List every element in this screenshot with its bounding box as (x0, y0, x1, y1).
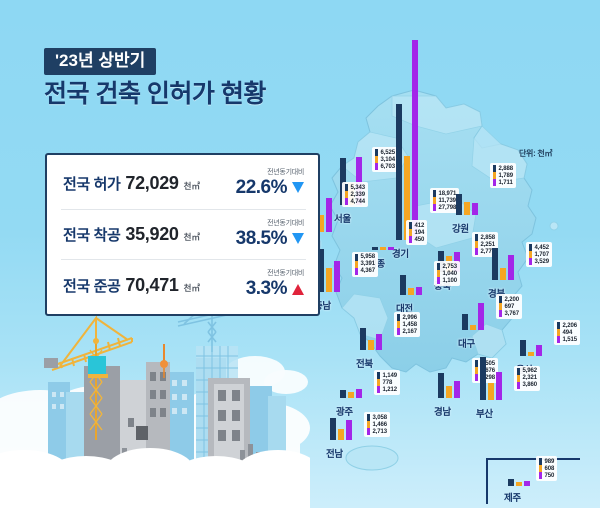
value-text: 2,200 (505, 297, 520, 303)
value-row: 494 (557, 329, 577, 336)
bar-준공 (472, 203, 478, 215)
legend-swatch-준공 (557, 336, 560, 343)
value-row: 194 (409, 229, 424, 236)
period-badge: '23년 상반기 (44, 48, 156, 75)
region-label-전북: 전북 (356, 356, 373, 370)
value-text: 3,767 (505, 311, 520, 317)
arrow-up-icon (292, 284, 304, 295)
region-label-제주: 제주 (504, 490, 521, 504)
legend-swatch-착공 (529, 251, 532, 258)
value-box-광주: 1,1497781,212 (374, 370, 400, 395)
bar-허가 (396, 104, 402, 240)
region-chart-광주: 광주1,1497781,212 (340, 389, 362, 398)
value-text: 3,104 (381, 157, 396, 163)
legend-swatch-준공 (397, 328, 400, 335)
bar-group (492, 248, 514, 280)
legend-swatch-착공 (539, 465, 542, 472)
value-text: 2,321 (523, 375, 538, 381)
value-text: 3,391 (361, 261, 376, 267)
legend-swatch-착공 (375, 156, 378, 163)
legend-swatch-허가 (539, 458, 542, 465)
legend-swatch-준공 (355, 268, 358, 275)
legend-swatch-착공 (517, 375, 520, 382)
infographic-stage: '23년 상반기 전국 건축 인허가 현황 전국 허가 72,029 천㎡ 전년… (0, 0, 600, 508)
value-row: 2,167 (397, 328, 417, 335)
region-chart-경기: 경기18,97111,73927,798 (396, 40, 418, 240)
bar-group (318, 249, 340, 292)
value-row: 5,962 (517, 368, 537, 375)
bar-group (330, 418, 352, 440)
value-text: 2,858 (481, 235, 496, 241)
bar-group (462, 303, 484, 330)
legend-swatch-허가 (557, 322, 560, 329)
value-row: 2,713 (367, 428, 387, 435)
legend-swatch-준공 (539, 472, 542, 479)
value-text: 3,529 (535, 259, 550, 265)
value-text: 2,753 (443, 264, 458, 270)
value-box-세종: 412194450 (406, 220, 427, 245)
page-title: 전국 건축 인허가 현황 (44, 80, 266, 109)
stat-start-value: 35,920 (125, 224, 178, 245)
region-label-부산: 부산 (476, 406, 493, 420)
bar-허가 (456, 194, 462, 215)
legend-swatch-허가 (499, 296, 502, 303)
stat-start-label: 전국 착공 (63, 224, 120, 245)
legend-swatch-허가 (475, 234, 478, 241)
legend-swatch-허가 (397, 314, 400, 321)
stat-complete-pct: 3.3% (246, 278, 287, 300)
legend-swatch-준공 (375, 163, 378, 170)
region-label-전남: 전남 (326, 446, 343, 460)
value-row: 4,744 (345, 198, 365, 205)
legend-swatch-착공 (557, 329, 560, 336)
legend-swatch-착공 (355, 261, 358, 268)
stat-complete-label: 전국 준공 (63, 275, 120, 296)
bar-허가 (462, 314, 468, 330)
value-row: 3,860 (517, 382, 537, 389)
bar-허가 (340, 390, 346, 398)
legend-swatch-준공 (475, 248, 478, 255)
bar-착공 (348, 392, 354, 398)
value-row: 450 (409, 236, 424, 243)
stat-start-right: 전년동기대비 38.5% (226, 220, 304, 250)
bar-group (372, 247, 394, 250)
bar-허가 (492, 248, 498, 280)
legend-swatch-착공 (475, 241, 478, 248)
legend-swatch-준공 (517, 382, 520, 389)
bar-허가 (400, 275, 406, 295)
value-text: 11,739 (439, 198, 456, 204)
legend-swatch-착공 (475, 367, 478, 374)
stat-start-compare: 전년동기대비 (226, 220, 304, 227)
value-row: 2,996 (397, 314, 417, 321)
bar-준공 (412, 40, 418, 240)
value-row: 1,149 (377, 372, 397, 379)
value-text: 6,703 (381, 164, 396, 170)
value-text: 194 (415, 230, 425, 236)
stat-complete-compare: 전년동기대비 (226, 270, 304, 277)
stat-permit-value: 72,029 (125, 173, 178, 194)
bar-준공 (346, 420, 352, 440)
value-text: 2,888 (499, 166, 514, 172)
value-text: 2,167 (403, 329, 418, 335)
value-text: 412 (415, 223, 425, 229)
legend-swatch-허가 (437, 263, 440, 270)
value-row: 2,206 (557, 322, 577, 329)
value-text: 1,707 (535, 252, 550, 258)
bar-준공 (416, 287, 422, 295)
value-box-대구: 2,2006973,767 (496, 294, 522, 319)
value-box-전남: 3,0581,4662,713 (364, 412, 390, 437)
value-row: 608 (539, 465, 554, 472)
value-box-부산: 5,9622,3213,860 (514, 366, 540, 391)
bar-group (480, 357, 502, 400)
stat-permit-unit: 천㎡ (184, 180, 200, 192)
bar-준공 (536, 345, 542, 356)
value-row: 6,703 (375, 163, 395, 170)
legend-swatch-착공 (433, 197, 436, 204)
bar-준공 (334, 261, 340, 292)
legend-swatch-준공 (377, 386, 380, 393)
stat-permit-right: 전년동기대비 22.6% (226, 169, 304, 199)
value-row: 2,753 (437, 263, 457, 270)
region-chart-전북: 전북2,9961,4582,167 (360, 328, 382, 350)
value-row: 1,515 (557, 336, 577, 343)
value-row: 1,040 (437, 270, 457, 277)
stat-row-start: 전국 착공 35,920 천㎡ 전년동기대비 38.5% (61, 210, 306, 261)
bar-허가 (520, 340, 526, 356)
legend-swatch-착공 (397, 321, 400, 328)
value-box-경북: 4,4521,7073,529 (526, 242, 552, 267)
value-row: 1,100 (437, 277, 457, 284)
value-row: 697 (499, 303, 519, 310)
region-chart-경북: 경북4,4521,7073,529 (492, 248, 514, 280)
stat-permit-left: 전국 허가 72,029 천㎡ (63, 173, 200, 194)
stat-start-pct: 38.5% (236, 228, 287, 250)
region-chart-전남: 전남3,0581,4662,713 (330, 418, 352, 440)
value-row: 2,888 (493, 165, 513, 172)
bar-착공 (488, 383, 494, 400)
bar-group (508, 479, 530, 486)
region-chart-경남: 경남3,5051,6762,298 (438, 373, 460, 398)
bar-허가 (372, 247, 378, 250)
region-chart-세종: 세종412194450 (372, 247, 394, 250)
legend-swatch-착공 (377, 379, 380, 386)
legend-swatch-허가 (529, 244, 532, 251)
value-row: 989 (539, 458, 554, 465)
region-label-광주: 광주 (336, 404, 353, 418)
region-label-경기: 경기 (392, 246, 409, 260)
value-text: 27,798 (439, 205, 457, 211)
bar-착공 (368, 340, 374, 350)
legend-swatch-허가 (367, 414, 370, 421)
value-box-인천: 5,3432,3394,744 (342, 182, 368, 207)
legend-swatch-착공 (367, 421, 370, 428)
value-box-충남: 5,9583,3914,367 (352, 252, 378, 277)
value-row: 27,798 (433, 204, 456, 211)
bar-준공 (478, 303, 484, 330)
stat-permit-pct: 22.6% (236, 177, 287, 199)
value-text: 2,996 (403, 315, 418, 321)
bar-착공 (446, 386, 452, 398)
value-row: 11,739 (433, 197, 456, 204)
legend-swatch-착공 (437, 270, 440, 277)
stat-complete-left: 전국 준공 70,471 천㎡ (63, 275, 200, 296)
value-row: 2,858 (475, 234, 495, 241)
bar-허가 (480, 357, 486, 400)
legend-swatch-허가 (475, 360, 478, 367)
bar-착공 (408, 288, 414, 295)
region-label-서울: 서울 (334, 211, 351, 225)
bar-허가 (438, 373, 444, 398)
bar-착공 (338, 429, 344, 440)
value-row: 1,711 (493, 179, 513, 186)
value-row: 2,321 (517, 375, 537, 382)
bar-group (396, 40, 418, 240)
legend-swatch-준공 (437, 277, 440, 284)
bar-group (400, 275, 422, 295)
legend-swatch-착공 (409, 229, 412, 236)
legend-swatch-준공 (529, 258, 532, 265)
legend-swatch-허가 (377, 372, 380, 379)
stat-complete-right: 전년동기대비 3.3% (226, 270, 304, 300)
legend-swatch-허가 (355, 254, 358, 261)
region-label-경남: 경남 (434, 404, 451, 418)
bar-준공 (508, 255, 514, 280)
value-box-울산: 2,2064941,515 (554, 320, 580, 345)
bar-준공 (356, 389, 362, 398)
bar-착공 (528, 352, 534, 356)
value-text: 2,339 (351, 192, 366, 198)
value-text: 1,515 (563, 337, 578, 343)
bar-착공 (500, 268, 506, 280)
region-label-대구: 대구 (458, 336, 475, 350)
value-text: 5,343 (351, 185, 366, 191)
value-text: 750 (545, 473, 555, 479)
legend-swatch-준공 (475, 374, 478, 381)
legend-swatch-허가 (517, 368, 520, 375)
value-row: 778 (377, 379, 397, 386)
value-text: 697 (505, 304, 515, 310)
value-text: 2,713 (373, 429, 388, 435)
value-text: 5,962 (523, 368, 538, 374)
region-chart-대전: 대전2,7531,0401,100 (400, 275, 422, 295)
value-row: 750 (539, 472, 554, 479)
region-chart-부산: 부산5,9622,3213,860 (480, 357, 502, 400)
value-text: 3,860 (523, 382, 538, 388)
value-row: 3,767 (499, 310, 519, 317)
value-text: 1,149 (383, 373, 398, 379)
value-row: 3,104 (375, 156, 395, 163)
value-text: 494 (563, 330, 573, 336)
legend-swatch-준공 (345, 198, 348, 205)
bar-허가 (508, 479, 514, 486)
value-text: 1,100 (443, 278, 458, 284)
bar-준공 (496, 372, 502, 400)
value-text: 4,452 (535, 245, 550, 251)
value-row: 3,058 (367, 414, 387, 421)
value-text: 1,789 (499, 173, 514, 179)
construction-illustration (0, 300, 310, 508)
value-row: 2,339 (345, 191, 365, 198)
value-row: 18,971 (433, 190, 456, 197)
region-chart-대구: 대구2,2006973,767 (462, 303, 484, 330)
value-row: 412 (409, 222, 424, 229)
value-text: 1,711 (499, 180, 513, 186)
bar-착공 (470, 325, 476, 330)
value-text: 3,058 (373, 415, 388, 421)
stat-permit-compare: 전년동기대비 (226, 169, 304, 176)
value-box-대전: 2,7531,0401,100 (434, 261, 460, 286)
value-box-서울: 6,5253,1046,703 (372, 147, 398, 172)
legend-swatch-허가 (375, 149, 378, 156)
stat-row-complete: 전국 준공 70,471 천㎡ 전년동기대비 3.3% (61, 260, 306, 310)
value-text: 1,458 (403, 322, 418, 328)
value-row: 6,525 (375, 149, 395, 156)
region-chart-충남: 충남5,9583,3914,367 (318, 249, 340, 292)
value-text: 18,971 (439, 191, 457, 197)
value-row: 1,212 (377, 386, 397, 393)
value-row: 3,391 (355, 261, 375, 268)
value-box-경기: 18,97111,73927,798 (430, 188, 459, 213)
bar-준공 (326, 198, 332, 232)
legend-swatch-준공 (433, 204, 436, 211)
value-text: 6,525 (381, 150, 396, 156)
value-row: 1,458 (397, 321, 417, 328)
crane-cabin (88, 356, 106, 374)
value-row: 4,452 (529, 244, 549, 251)
bar-착공 (464, 202, 470, 215)
value-row: 3,529 (529, 258, 549, 265)
value-box-제주: 989608750 (536, 456, 557, 481)
value-box-강원: 2,8881,7891,711 (490, 163, 516, 188)
value-text: 778 (383, 380, 393, 386)
bar-group (340, 389, 362, 398)
legend-swatch-준공 (409, 236, 412, 243)
title-block: '23년 상반기 전국 건축 인허가 현황 (44, 48, 266, 108)
summary-card: 전국 허가 72,029 천㎡ 전년동기대비 22.6% 전국 착공 35,92… (45, 153, 320, 316)
legend-swatch-준공 (493, 179, 496, 186)
stat-complete-unit: 천㎡ (184, 282, 200, 294)
value-row: 1,466 (367, 421, 387, 428)
value-row: 2,200 (499, 296, 519, 303)
bar-준공 (376, 334, 382, 350)
arrow-down-icon (292, 182, 304, 193)
bar-착공 (380, 247, 386, 250)
value-text: 2,206 (563, 323, 578, 329)
value-row: 5,343 (345, 184, 365, 191)
bar-준공 (454, 381, 460, 398)
bar-group (438, 373, 460, 398)
bar-착공 (516, 482, 522, 486)
value-text: 2,251 (481, 242, 496, 248)
unit-note: 단위: 천㎡ (519, 148, 552, 159)
stat-start-left: 전국 착공 35,920 천㎡ (63, 224, 200, 245)
bar-허가 (330, 418, 336, 440)
bar-준공 (524, 481, 530, 486)
region-label-강원: 강원 (452, 221, 469, 235)
legend-swatch-준공 (499, 310, 502, 317)
bar-group (456, 194, 478, 215)
stat-start-unit: 천㎡ (184, 231, 200, 243)
value-row: 2,251 (475, 241, 495, 248)
legend-swatch-허가 (433, 190, 436, 197)
value-text: 1,466 (373, 422, 388, 428)
value-text: 450 (415, 237, 425, 243)
arrow-down-icon (292, 233, 304, 244)
value-text: 989 (545, 459, 555, 465)
bar-group (360, 328, 382, 350)
region-chart-강원: 강원2,8881,7891,711 (456, 194, 478, 215)
jeju-callout-bracket (486, 458, 580, 504)
region-chart-울산: 울산2,2064941,515 (520, 340, 542, 356)
value-row: 1,707 (529, 251, 549, 258)
legend-swatch-허가 (493, 165, 496, 172)
bar-허가 (360, 328, 366, 350)
bar-준공 (388, 247, 394, 250)
value-text: 4,367 (361, 268, 376, 274)
value-text: 5,958 (361, 254, 376, 260)
legend-swatch-허가 (345, 184, 348, 191)
stat-row-permit: 전국 허가 72,029 천㎡ 전년동기대비 22.6% (61, 159, 306, 210)
value-text: 1,212 (383, 387, 398, 393)
value-text: 608 (545, 466, 555, 472)
stat-permit-label: 전국 허가 (63, 173, 120, 194)
region-chart-제주: 제주989608750 (508, 479, 530, 486)
bar-group (520, 340, 542, 356)
value-row: 4,367 (355, 268, 375, 275)
legend-swatch-착공 (493, 172, 496, 179)
bar-착공 (326, 268, 332, 292)
value-box-전북: 2,9961,4582,167 (394, 312, 420, 337)
legend-swatch-허가 (409, 222, 412, 229)
value-text: 4,744 (351, 199, 366, 205)
legend-swatch-착공 (345, 191, 348, 198)
value-text: 1,040 (443, 271, 458, 277)
stat-complete-value: 70,471 (125, 275, 178, 296)
legend-swatch-착공 (499, 303, 502, 310)
legend-swatch-준공 (367, 428, 370, 435)
value-row: 1,789 (493, 172, 513, 179)
value-row: 5,958 (355, 254, 375, 261)
